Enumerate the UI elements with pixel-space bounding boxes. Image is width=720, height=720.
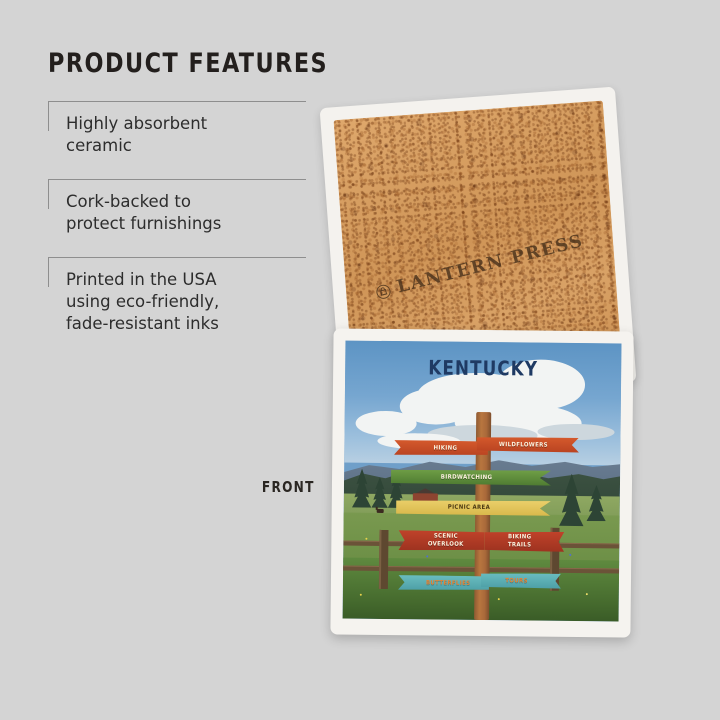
artwork-title: KENTUCKY <box>355 355 612 382</box>
fence-post <box>379 530 389 589</box>
feature-item-3: Printed in the USA using eco-friendly, f… <box>48 257 316 335</box>
feature-item-1: Highly absorbent ceramic <box>48 101 316 157</box>
divider-line <box>48 101 306 102</box>
sign-wildflowers: WILDFLOWERS <box>477 436 579 452</box>
divider-tick <box>48 179 49 209</box>
label-front-view: FRONT <box>262 478 315 496</box>
divider-line <box>48 179 306 180</box>
feature-item-2: Cork-backed to protect furnishings <box>48 179 316 235</box>
feature-text: Highly absorbent ceramic <box>66 101 316 157</box>
brand-stamp: LANTERN PRESS <box>374 231 586 303</box>
divider-tick <box>48 257 49 287</box>
sign-butterflies: BUTTERFLIES <box>398 575 489 591</box>
sign-biking-trails: BIKING TRAILS <box>484 531 564 552</box>
feature-text: Printed in the USA using eco-friendly, f… <box>66 257 316 335</box>
coaster-front-view: KENTUCKY <box>330 328 633 637</box>
coaster-artwork: KENTUCKY <box>343 341 622 622</box>
sign-scenic-overlook: SCENIC OVERLOOK <box>398 530 484 551</box>
divider-tick <box>48 101 49 131</box>
cloud <box>356 410 417 436</box>
feature-text: Cork-backed to protect furnishings <box>66 179 316 235</box>
lantern-icon <box>374 282 392 300</box>
product-features-panel: PRODUCT FEATURES Highly absorbent cerami… <box>48 48 316 335</box>
brand-name: LANTERN PRESS <box>395 231 586 297</box>
divider-line <box>48 257 306 258</box>
sign-picnic-area: PICNIC AREA <box>396 500 551 517</box>
horse <box>377 509 384 513</box>
sign-tours: TOURS <box>481 573 561 589</box>
page-title: PRODUCT FEATURES <box>48 48 295 79</box>
sign-birdwatching: BIRDWATCHING <box>391 469 551 486</box>
sign-hiking: HIKING <box>394 440 488 456</box>
